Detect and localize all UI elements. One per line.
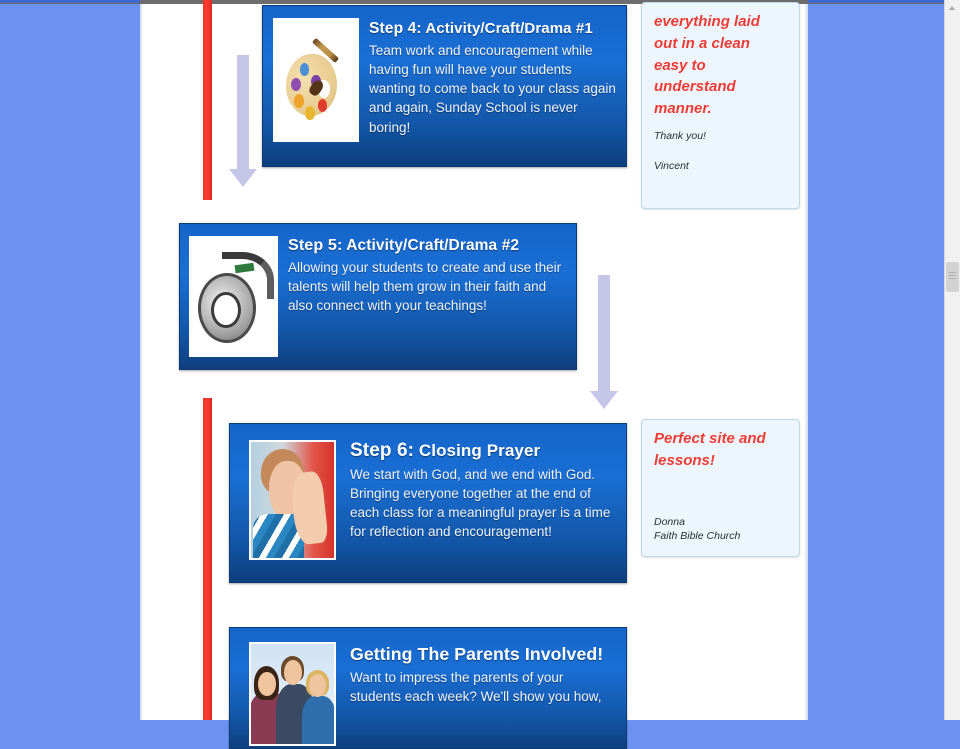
step-card-title-lead: Getting The Parents Involved! <box>350 644 603 664</box>
testimonial-author: Vincent <box>654 160 787 172</box>
arrow-shaft <box>598 275 610 393</box>
tape-dispenser-icon <box>189 236 278 357</box>
step-card-title-rest: Activity/Craft/Drama #2 <box>342 237 519 254</box>
step-card-body: Step 5: Activity/Craft/Drama #2 Allowing… <box>278 224 576 369</box>
step-card-title: Step 6: Closing Prayer <box>350 440 616 462</box>
step-card-step5[interactable]: Step 5: Activity/Craft/Drama #2 Allowing… <box>179 223 577 370</box>
step-card-parents[interactable]: Getting The Parents Involved! Want to im… <box>229 627 627 749</box>
red-vertical-rail-top <box>203 0 212 200</box>
testimonial-card-donna: Perfect site and lessons! Donna Faith Bi… <box>641 419 800 557</box>
paint-dot-red <box>318 99 328 112</box>
family-photo <box>249 642 336 746</box>
step-card-step4[interactable]: Step 4: Activity/Craft/Drama #1 Team wor… <box>262 5 627 167</box>
step-card-title: Step 4: Activity/Craft/Drama #1 <box>369 20 616 38</box>
scroll-up-button[interactable] <box>945 0 960 15</box>
document-right-edge <box>804 4 808 720</box>
testimonial-thanks: Thank you! <box>654 130 787 142</box>
vertical-scrollbar[interactable] <box>944 0 960 720</box>
window-top-edge-left <box>0 0 140 3</box>
step-card-step6[interactable]: Step 6: Closing Prayer We start with God… <box>229 423 627 583</box>
step-card-body: Getting The Parents Involved! Want to im… <box>336 628 626 748</box>
step-card-title-rest: Activity/Craft/Drama #1 <box>422 20 593 37</box>
step-card-title-lead: Step 6: <box>350 440 414 461</box>
step-card-title-lead: Step 4: <box>369 20 422 37</box>
palette-icon <box>273 18 359 142</box>
document-left-edge <box>140 4 142 720</box>
testimonial-quote: Perfect site and lessons! <box>654 428 787 472</box>
testimonial-organization: Faith Bible Church <box>654 530 787 542</box>
arrow-head <box>229 169 257 187</box>
step-card-text: We start with God, and we end with God. … <box>350 465 616 542</box>
red-vertical-rail-bottom <box>203 398 212 720</box>
arrow-shaft <box>237 55 249 171</box>
step-card-title: Getting The Parents Involved! <box>350 644 616 665</box>
mother-head <box>258 672 275 696</box>
step-card-text: Team work and encouragement while having… <box>369 41 616 137</box>
testimonial-card-vincent: everything laid out in a clean easy to u… <box>641 2 800 209</box>
child-body <box>302 696 335 746</box>
child-head <box>309 674 326 697</box>
step-card-body: Step 4: Activity/Craft/Drama #1 Team wor… <box>359 6 626 166</box>
paint-dot-yellow <box>305 106 315 119</box>
page-background: Step 4: Activity/Craft/Drama #1 Team wor… <box>0 0 960 720</box>
paint-dot-orange <box>294 94 304 107</box>
praying-woman-photo <box>249 440 336 560</box>
arrow-head <box>590 391 618 409</box>
step-card-title: Step 5: Activity/Craft/Drama #2 <box>288 236 566 255</box>
chevron-up-icon <box>949 6 955 10</box>
testimonial-author: Donna <box>654 516 787 528</box>
step-card-text: Allowing your students to create and use… <box>288 258 566 315</box>
down-arrow-icon <box>589 275 619 410</box>
paint-dot-purple <box>291 78 301 91</box>
step-card-body: Step 6: Closing Prayer We start with God… <box>336 424 626 582</box>
down-arrow-icon <box>228 55 258 188</box>
scrollbar-thumb[interactable] <box>946 262 959 292</box>
step-card-title-lead: Step 5: <box>288 236 342 254</box>
step-card-title-rest: Closing Prayer <box>414 441 540 460</box>
step-card-text: Want to impress the parents of your stud… <box>350 668 616 706</box>
window-top-edge-right <box>808 0 945 3</box>
father-head <box>284 660 301 685</box>
testimonial-quote: everything laid out in a clean easy to u… <box>654 11 787 120</box>
scrollbar-grip-icon <box>949 275 956 276</box>
